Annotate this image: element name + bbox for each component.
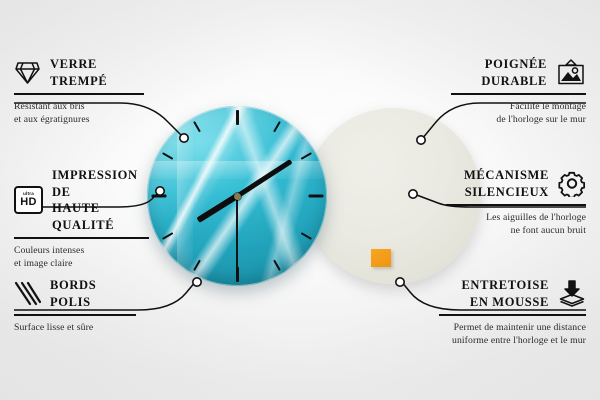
gear-icon (558, 170, 586, 197)
callout-divider (451, 93, 586, 95)
callout-description: Surface lisse et sûre (14, 321, 136, 335)
diamond-icon (14, 60, 41, 85)
ultra-hd-icon: ultra HD (14, 186, 43, 214)
leader-dot-entretoise (396, 278, 404, 286)
infographic-canvas: VERRE TREMPÉ Résistant aux bris et aux é… (0, 0, 600, 400)
callout-title: IMPRESSION DE HAUTE QUALITÉ (52, 167, 149, 233)
callout-divider (14, 314, 136, 316)
callout-description: Permet de maintenir une distance uniform… (439, 321, 586, 348)
callout-impression-haute-qualite: ultra HD IMPRESSION DE HAUTE QUALITÉ Cou… (14, 167, 149, 271)
callout-description: Couleurs intenses et image claire (14, 244, 149, 271)
callout-verre-trempe: VERRE TREMPÉ Résistant aux bris et aux é… (14, 56, 144, 127)
callout-bords-polis: BORDS POLIS Surface lisse et sûre (14, 277, 136, 334)
callout-description: Facilite le montage de l'horloge sur le … (451, 100, 586, 127)
foam-spacer-icon (558, 280, 586, 307)
callout-divider (446, 204, 586, 206)
callout-title: BORDS POLIS (50, 277, 96, 310)
leader-dot-bords-polis (193, 278, 201, 286)
callout-divider (439, 314, 586, 316)
callout-poignee-durable: POIGNÉE DURABLE Facilite le montage de l… (451, 56, 586, 127)
leader-dot-poignee (417, 136, 425, 144)
diagonal-lines-icon (14, 281, 41, 306)
leader-dot-verre-trempe (180, 134, 188, 142)
callout-description: Les aiguilles de l'horloge ne font aucun… (446, 211, 586, 238)
callout-description: Résistant aux bris et aux égratignures (14, 100, 144, 127)
callout-title: MÉCANISME SILENCIEUX (464, 167, 549, 200)
leader-dot-impression (156, 187, 164, 195)
callout-entretoise-en-mousse: ENTRETOISE EN MOUSSE Permet de maintenir… (439, 277, 586, 348)
callout-title: VERRE TREMPÉ (50, 56, 107, 89)
callout-divider (14, 237, 149, 239)
callout-mecanisme-silencieux: MÉCANISME SILENCIEUX Les aiguilles de l'… (446, 167, 586, 238)
leader-dot-mecanisme (409, 190, 417, 198)
callout-title: ENTRETOISE EN MOUSSE (461, 277, 549, 310)
picture-hanger-icon (556, 59, 586, 86)
callout-title: POIGNÉE DURABLE (481, 56, 547, 89)
callout-divider (14, 93, 144, 95)
